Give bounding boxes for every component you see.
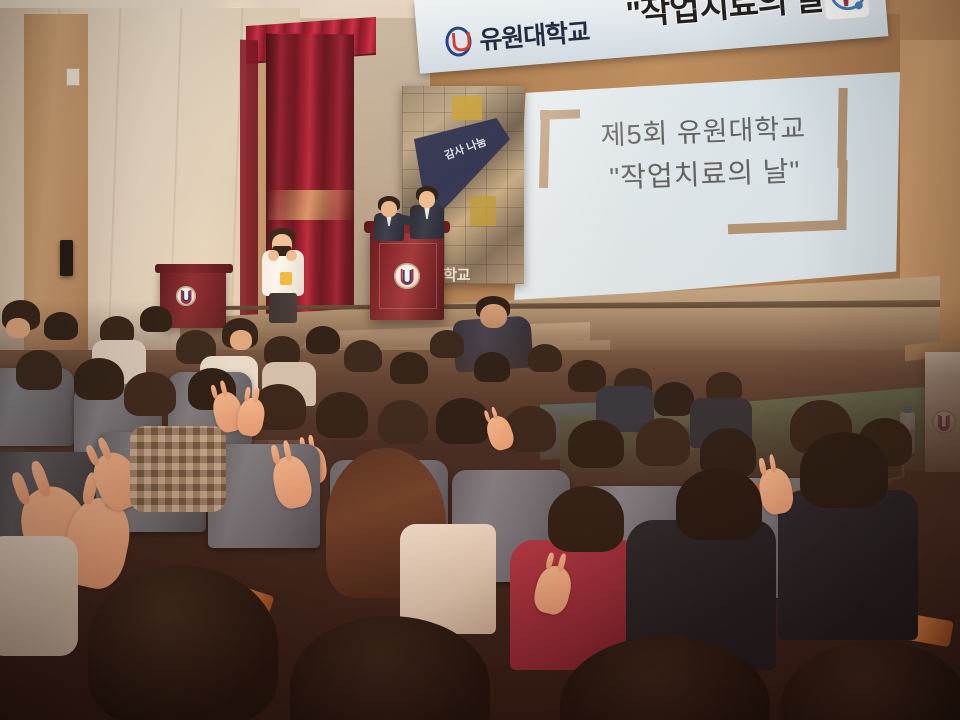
side-podium-top bbox=[155, 264, 233, 273]
audience-head bbox=[568, 420, 624, 468]
audience-head bbox=[378, 400, 428, 444]
audience-head bbox=[548, 486, 624, 552]
speaker-beside-podium bbox=[408, 186, 446, 238]
audience-head bbox=[654, 382, 694, 416]
audience-head bbox=[800, 432, 888, 508]
audience-head bbox=[390, 352, 428, 384]
audience-head bbox=[124, 372, 176, 416]
audience-head bbox=[436, 398, 490, 444]
audience-head bbox=[306, 326, 340, 354]
audience-head bbox=[16, 350, 62, 390]
screen-light-wash bbox=[514, 72, 900, 304]
university-seal-emblem-icon bbox=[394, 263, 420, 289]
audience-head bbox=[140, 306, 172, 332]
audience-head bbox=[676, 468, 762, 540]
banner-university-name: 유원대학교 bbox=[478, 12, 591, 57]
audience-head bbox=[44, 312, 78, 340]
wall-plate bbox=[66, 68, 80, 86]
audience-head bbox=[316, 392, 368, 438]
audience-sleeve-cream bbox=[0, 536, 78, 656]
audience-head bbox=[430, 330, 464, 358]
audience-face bbox=[6, 318, 30, 338]
doctor-illustration-icon bbox=[817, 0, 873, 17]
curtain-side bbox=[240, 40, 258, 327]
audience-body-dark bbox=[778, 490, 918, 640]
curtain-tieback bbox=[268, 190, 354, 220]
audience-face bbox=[230, 330, 252, 350]
audience-head bbox=[474, 352, 510, 382]
uiduk-university-logo-icon bbox=[444, 26, 472, 58]
banner-event-title: "작업치료의 날" bbox=[624, 0, 841, 35]
audience-head bbox=[344, 340, 382, 372]
auditorium-photo: 유원대학교 "작업치료의 날" 제5회 유원대학교 "작업치료의 날" 감사 나… bbox=[0, 0, 960, 720]
wall-speaker-icon bbox=[60, 240, 73, 276]
audience-head bbox=[74, 358, 124, 400]
collage-accent bbox=[452, 96, 482, 120]
collage-accent bbox=[470, 196, 496, 226]
audience-body-checkered bbox=[130, 426, 226, 512]
audience-head-foreground bbox=[88, 566, 278, 720]
audience-head bbox=[636, 418, 690, 466]
audience-head bbox=[528, 344, 562, 372]
